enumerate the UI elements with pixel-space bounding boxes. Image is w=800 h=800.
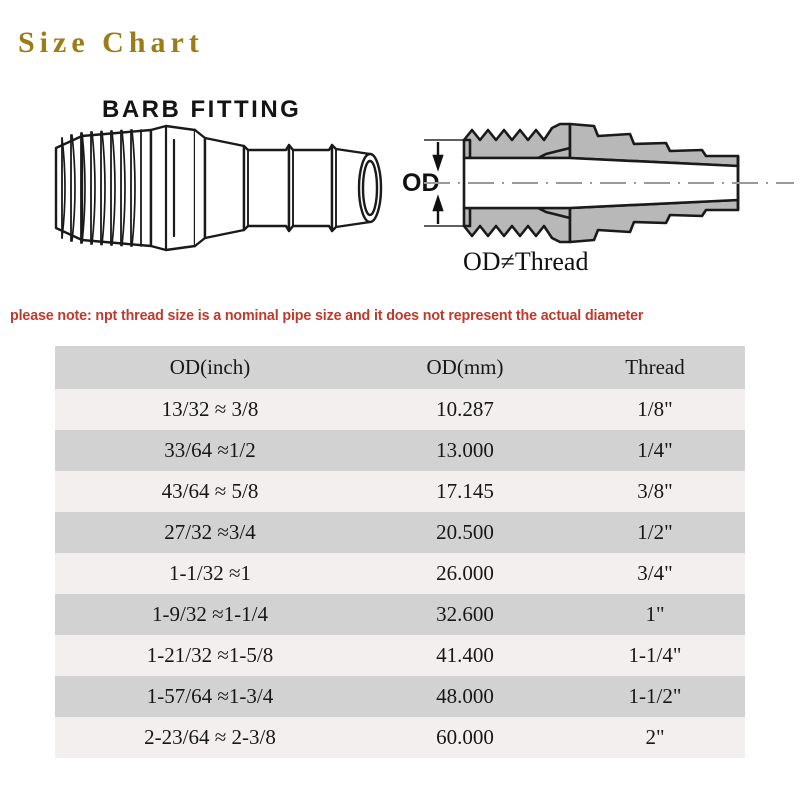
table-row: 1-1/32 ≈1 26.000 3/4": [55, 553, 745, 594]
cell-thread: 3/8": [565, 471, 745, 512]
disclaimer-note: please note: npt thread size is a nomina…: [10, 308, 788, 324]
table-header-row: OD(inch) OD(mm) Thread: [55, 346, 745, 389]
cell-thread: 3/4": [565, 553, 745, 594]
table-row: 33/64 ≈1/2 13.000 1/4": [55, 430, 745, 471]
cell-od-mm: 48.000: [365, 676, 565, 717]
column-header-thread: Thread: [565, 346, 745, 389]
cell-od-mm: 13.000: [365, 430, 565, 471]
cell-od-inch: 27/32 ≈3/4: [55, 512, 365, 553]
cell-od-mm: 10.287: [365, 389, 565, 430]
table-row: 13/32 ≈ 3/8 10.287 1/8": [55, 389, 745, 430]
table-row: 43/64 ≈ 5/8 17.145 3/8": [55, 471, 745, 512]
table-body: 13/32 ≈ 3/8 10.287 1/8" 33/64 ≈1/2 13.00…: [55, 389, 745, 758]
column-header-od-mm: OD(mm): [365, 346, 565, 389]
od-not-equal-thread-caption: OD≠Thread: [463, 247, 588, 277]
cell-od-inch: 1-57/64 ≈1-3/4: [55, 676, 365, 717]
cell-thread: 1/4": [565, 430, 745, 471]
cell-od-inch: 2-23/64 ≈ 2-3/8: [55, 717, 365, 758]
cell-od-inch: 1-21/32 ≈1-5/8: [55, 635, 365, 676]
cross-section-icon: OD: [398, 118, 800, 253]
barb-fitting-perspective-icon: [48, 124, 388, 257]
size-chart-table: OD(inch) OD(mm) Thread 13/32 ≈ 3/8 10.28…: [55, 346, 745, 758]
cell-od-mm: 32.600: [365, 594, 565, 635]
cell-od-mm: 26.000: [365, 553, 565, 594]
cell-od-inch: 33/64 ≈1/2: [55, 430, 365, 471]
barb-fitting-label: BARB FITTING: [102, 96, 301, 124]
table-row: 1-9/32 ≈1-1/4 32.600 1": [55, 594, 745, 635]
cell-od-inch: 13/32 ≈ 3/8: [55, 389, 365, 430]
column-header-od-inch: OD(inch): [55, 346, 365, 389]
cell-od-mm: 20.500: [365, 512, 565, 553]
cell-thread: 1-1/2": [565, 676, 745, 717]
cell-od-inch: 1-9/32 ≈1-1/4: [55, 594, 365, 635]
cell-thread: 1/2": [565, 512, 745, 553]
cell-thread: 2": [565, 717, 745, 758]
cell-od-mm: 41.400: [365, 635, 565, 676]
table-row: 1-57/64 ≈1-3/4 48.000 1-1/2": [55, 676, 745, 717]
table-row: 2-23/64 ≈ 2-3/8 60.000 2": [55, 717, 745, 758]
cell-od-inch: 1-1/32 ≈1: [55, 553, 365, 594]
cell-od-mm: 17.145: [365, 471, 565, 512]
page-title: Size Chart: [18, 26, 204, 60]
cell-thread: 1-1/4": [565, 635, 745, 676]
cell-od-mm: 60.000: [365, 717, 565, 758]
cell-thread: 1": [565, 594, 745, 635]
table-row: 1-21/32 ≈1-5/8 41.400 1-1/4": [55, 635, 745, 676]
cell-thread: 1/8": [565, 389, 745, 430]
table-row: 27/32 ≈3/4 20.500 1/2": [55, 512, 745, 553]
cell-od-inch: 43/64 ≈ 5/8: [55, 471, 365, 512]
